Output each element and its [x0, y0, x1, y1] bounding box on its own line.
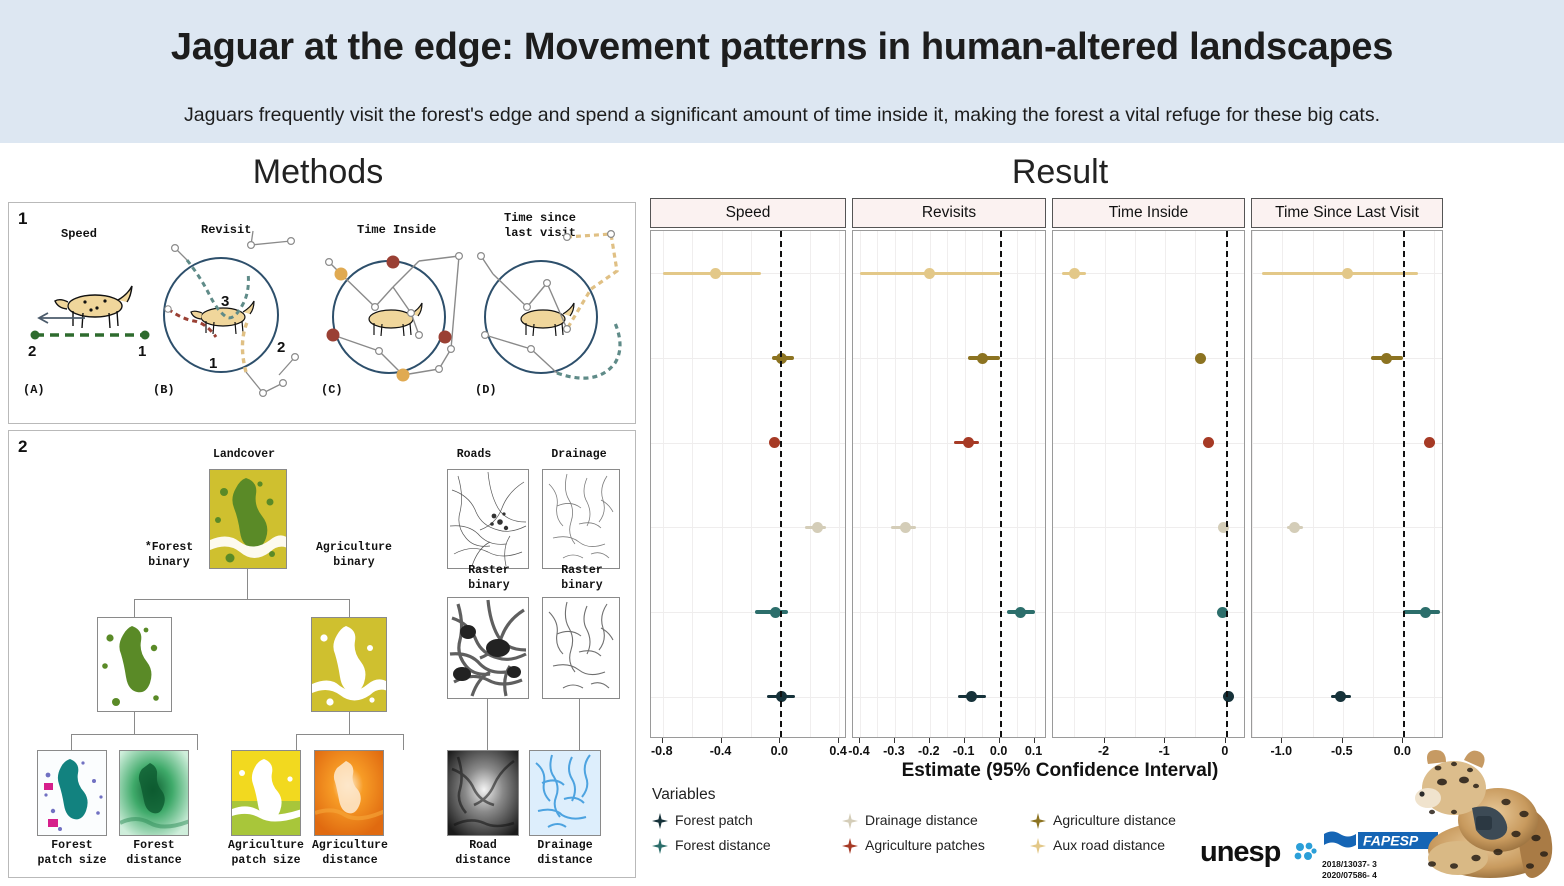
connector-agri-out-down [349, 712, 350, 734]
legend-label: Agriculture patches [865, 837, 985, 853]
forest-panel-header: Time Inside [1052, 198, 1245, 228]
legend-marker-icon [1030, 838, 1045, 853]
page-title: Jaguar at the edge: Movement patterns in… [0, 26, 1564, 69]
gridline-horizontal [651, 443, 845, 444]
legend-label: Forest patch [675, 812, 753, 828]
methods-panel-2-number: 2 [18, 437, 27, 457]
gridline-vertical [1343, 231, 1344, 737]
agriculture-patch-size-thumbnail [231, 750, 301, 836]
forest-binary-label-1: *Forest [114, 541, 224, 555]
estimate-point [1069, 268, 1080, 279]
gridline-vertical [947, 231, 948, 737]
gridline-horizontal [853, 358, 1045, 359]
drainage-raster-binary-2: binary [537, 579, 627, 593]
axis-tick-mark [838, 738, 839, 743]
estimate-point [924, 268, 935, 279]
jaguar-photo [1398, 742, 1564, 886]
methods-panel-letter-b: (B) [153, 383, 175, 397]
gridline-vertical [982, 231, 983, 737]
gridline-horizontal [1252, 527, 1442, 528]
forest-binary-thumbnail [97, 617, 172, 712]
connector-road-out-down [487, 699, 488, 750]
legend-label: Aux road distance [1053, 837, 1165, 853]
landcover-label: Landcover [179, 448, 309, 462]
legend-marker-icon [652, 838, 667, 853]
agriculture-binary-label-2: binary [294, 556, 414, 570]
estimate-point [1195, 353, 1206, 364]
axis-tick-label: -0.3 [883, 744, 905, 758]
gridline-vertical [877, 231, 878, 737]
estimate-point [1335, 691, 1346, 702]
output-caption-5b: distance [441, 854, 525, 868]
connector-drain-out-down [579, 699, 580, 750]
gridline-vertical [1434, 231, 1435, 737]
legend-item[interactable]: Aux road distance [1030, 837, 1165, 853]
jaguar-body [1415, 750, 1552, 878]
gridline-vertical [839, 231, 840, 737]
forest-panel-header: Speed [650, 198, 846, 228]
forest-panel-plot [650, 230, 846, 738]
gridline-vertical [1017, 231, 1018, 737]
forest-panel-plot [1251, 230, 1443, 738]
zero-reference-line [780, 231, 782, 737]
revisit-label-3: 3 [221, 293, 229, 310]
legend-title: Variables [652, 786, 715, 804]
forest-plot-x-axis-label: Estimate (95% Confidence Interval) [650, 760, 1470, 782]
forest-patch-size-thumbnail [37, 750, 107, 836]
gridline-vertical [722, 231, 723, 737]
gridline-vertical [751, 231, 752, 737]
gridline-horizontal [1053, 443, 1244, 444]
methods-panel-letter-c: (C) [321, 383, 343, 397]
legend-marker-icon [1030, 813, 1045, 828]
connector-forest-patch-down [71, 734, 72, 750]
gridline-horizontal [1252, 443, 1442, 444]
methods-panel-1-number: 1 [18, 209, 27, 229]
speed-point-1-label: 1 [138, 343, 146, 360]
axis-tick-mark [1034, 738, 1035, 743]
estimate-point [900, 522, 911, 533]
legend-item[interactable]: Forest patch [652, 812, 753, 828]
zero-reference-line [1000, 231, 1002, 737]
revisit-track-3 [187, 260, 248, 318]
forest-panel-plot [852, 230, 1046, 738]
output-caption-5a: Road [441, 839, 525, 853]
gridline-vertical [895, 231, 896, 737]
output-caption-6a: Drainage [523, 839, 607, 853]
axis-tick-mark [1104, 738, 1105, 743]
methods-panel-1: 1 Speed Revisit Time Inside Time since l… [8, 202, 636, 424]
gridline-vertical [930, 231, 931, 737]
connector-landcover-down [247, 569, 248, 599]
axis-tick-label: 0.4 [829, 744, 846, 758]
legend-item[interactable]: Agriculture distance [1030, 812, 1176, 828]
confidence-interval-bar [1262, 272, 1418, 275]
legend-label: Agriculture distance [1053, 812, 1176, 828]
legend-item[interactable]: Agriculture patches [842, 837, 985, 853]
agriculture-binary-label-1: Agriculture [294, 541, 414, 555]
estimate-point [1218, 522, 1229, 533]
road-raster-binary-thumbnail [447, 597, 529, 699]
estimate-point [1223, 691, 1234, 702]
connector-agri-down [349, 599, 350, 617]
poster-root: Jaguar at the edge: Movement patterns in… [0, 0, 1564, 886]
gridline-vertical [912, 231, 913, 737]
axis-tick-mark [1281, 738, 1282, 743]
road-distance-thumbnail [447, 750, 519, 836]
time-inside-diagram [319, 225, 479, 405]
estimate-point [977, 353, 988, 364]
connector-forest-dist-down [197, 734, 198, 750]
axis-tick-label: 0 [1221, 744, 1228, 758]
gridline-horizontal [651, 358, 845, 359]
estimate-point [769, 437, 780, 448]
gridline-vertical [1195, 231, 1196, 737]
connector-agri-dist-down [403, 734, 404, 750]
gridline-vertical [1165, 231, 1166, 737]
axis-tick-label: -1 [1159, 744, 1170, 758]
legend-item[interactable]: Forest distance [652, 837, 771, 853]
time-since-diagram [471, 225, 637, 405]
legend-marker-icon [842, 813, 857, 828]
methods-section-title: Methods [0, 153, 636, 192]
estimate-point [966, 691, 977, 702]
axis-tick-mark [1164, 738, 1165, 743]
forest-panel-header: Revisits [852, 198, 1046, 228]
estimate-point [812, 522, 823, 533]
gridline-horizontal [1252, 358, 1442, 359]
output-caption-1b: patch size [25, 854, 119, 868]
legend-item[interactable]: Drainage distance [842, 812, 978, 828]
methods-label-speed: Speed [61, 227, 97, 241]
axis-tick-mark [894, 738, 895, 743]
gridline-vertical [663, 231, 664, 737]
output-caption-6b: distance [523, 854, 607, 868]
methods-panel-letter-a: (A) [23, 383, 45, 397]
zero-reference-line [1226, 231, 1228, 737]
jaguar-icon-a [55, 286, 132, 328]
poster-header: Jaguar at the edge: Movement patterns in… [0, 0, 1564, 143]
forest-panel-plot [1052, 230, 1245, 738]
methods-panel-letter-d: (D) [475, 383, 497, 397]
axis-tick-mark [999, 738, 1000, 743]
output-caption-2b: distance [109, 854, 199, 868]
revisit-diagram [151, 225, 311, 405]
roads-label: Roads [429, 448, 519, 462]
axis-tick-label: -0.4 [848, 744, 870, 758]
drainage-thumbnail [542, 469, 620, 569]
roads-raster-binary-2: binary [444, 579, 534, 593]
roads-raster-binary-1: Raster [444, 564, 534, 578]
axis-tick-label: -0.1 [953, 744, 975, 758]
revisit-label-2: 2 [277, 339, 285, 356]
output-caption-4a: Agriculture [298, 839, 402, 853]
legend-label: Drainage distance [865, 812, 978, 828]
axis-tick-mark [964, 738, 965, 743]
speed-point-2-label: 2 [28, 343, 36, 360]
drainage-raster-binary-thumbnail [542, 597, 620, 699]
axis-tick-label: 0.0 [990, 744, 1007, 758]
gridline-vertical [1135, 231, 1136, 737]
gridline-horizontal [1053, 358, 1244, 359]
estimate-point [1203, 437, 1214, 448]
drainage-distance-thumbnail [529, 750, 601, 836]
track-outside-1 [567, 234, 617, 329]
drainage-raster-binary-1: Raster [537, 564, 627, 578]
axis-tick-mark [1225, 738, 1226, 743]
estimate-point [1015, 607, 1026, 618]
estimate-point [963, 437, 974, 448]
gridline-horizontal [651, 612, 845, 613]
gridline-horizontal [853, 443, 1045, 444]
gridline-horizontal [1053, 527, 1244, 528]
result-section-title: Result [650, 153, 1470, 192]
axis-tick-label: -2 [1098, 744, 1109, 758]
revisit-label-1: 1 [209, 355, 217, 372]
methods-label-time-since-1: Time since [504, 211, 576, 225]
gridline-vertical [965, 231, 966, 737]
unesp-logo-text: unesp [1200, 836, 1280, 869]
connector-forest-out-down [134, 712, 135, 734]
estimate-point [1342, 268, 1353, 279]
estimate-point [1420, 607, 1431, 618]
gridline-vertical [692, 231, 693, 737]
estimate-point [710, 268, 721, 279]
revisit-track-2 [242, 320, 248, 372]
gridline-horizontal [853, 527, 1045, 528]
axis-tick-mark [1342, 738, 1343, 743]
output-caption-4b: distance [298, 854, 402, 868]
forest-binary-label-2: binary [114, 556, 224, 570]
axis-tick-mark [662, 738, 663, 743]
axis-tick-mark [721, 738, 722, 743]
estimate-point [1289, 522, 1300, 533]
connector-forest-down [134, 599, 135, 617]
legend-label: Forest distance [675, 837, 771, 853]
forest-plot: Speed-0.8-0.40.00.4Revisits-0.4-0.3-0.2-… [650, 198, 1470, 798]
page-subtitle: Jaguars frequently visit the forest's ed… [0, 104, 1564, 127]
gridline-vertical [1105, 231, 1106, 737]
output-caption-1a: Forest [25, 839, 119, 853]
axis-tick-label: -0.8 [651, 744, 673, 758]
axis-tick-label: -0.5 [1331, 744, 1353, 758]
gridline-vertical [1282, 231, 1283, 737]
gridline-horizontal [1053, 612, 1244, 613]
legend-marker-icon [652, 813, 667, 828]
gridline-vertical [1035, 231, 1036, 737]
axis-tick-mark [929, 738, 930, 743]
connector-agri-out-h [296, 734, 403, 735]
connector-forest-out-h [71, 734, 197, 735]
gridline-vertical [1313, 231, 1314, 737]
gridline-vertical [1252, 231, 1253, 737]
exit-point-marker [387, 256, 400, 269]
output-caption-2a: Forest [109, 839, 199, 853]
legend-marker-icon [842, 838, 857, 853]
axis-tick-mark [859, 738, 860, 743]
unesp-logo-icon [1292, 840, 1318, 864]
forest-panel-header: Time Since Last Visit [1251, 198, 1443, 228]
agriculture-distance-thumbnail [314, 750, 384, 836]
gridline-horizontal [651, 697, 845, 698]
axis-tick-mark [779, 738, 780, 743]
axis-tick-label: -0.2 [918, 744, 940, 758]
estimate-point [1381, 353, 1392, 364]
connector-landcover-h [134, 599, 349, 600]
methods-panel-2: 2 Landcover Roads Drainage [8, 430, 636, 878]
zero-reference-line [1403, 231, 1405, 737]
forest-distance-thumbnail [119, 750, 189, 836]
axis-tick-label: 0.1 [1025, 744, 1042, 758]
gridline-horizontal [1053, 697, 1244, 698]
forest-plot-legend: Variables Forest patchForest distanceDra… [652, 786, 1212, 870]
axis-tick-label: -0.4 [710, 744, 732, 758]
drainage-label: Drainage [529, 448, 629, 462]
gridline-vertical [1074, 231, 1075, 737]
axis-tick-label: 0.0 [771, 744, 788, 758]
agriculture-binary-thumbnail [311, 617, 387, 712]
roads-thumbnail [447, 469, 529, 569]
gridline-horizontal [853, 697, 1045, 698]
connector-agri-patch-down [296, 734, 297, 750]
gridline-vertical [1373, 231, 1374, 737]
gridline-vertical [860, 231, 861, 737]
axis-tick-label: -1.0 [1270, 744, 1292, 758]
gridline-vertical [810, 231, 811, 737]
entry-point-marker [335, 268, 348, 281]
